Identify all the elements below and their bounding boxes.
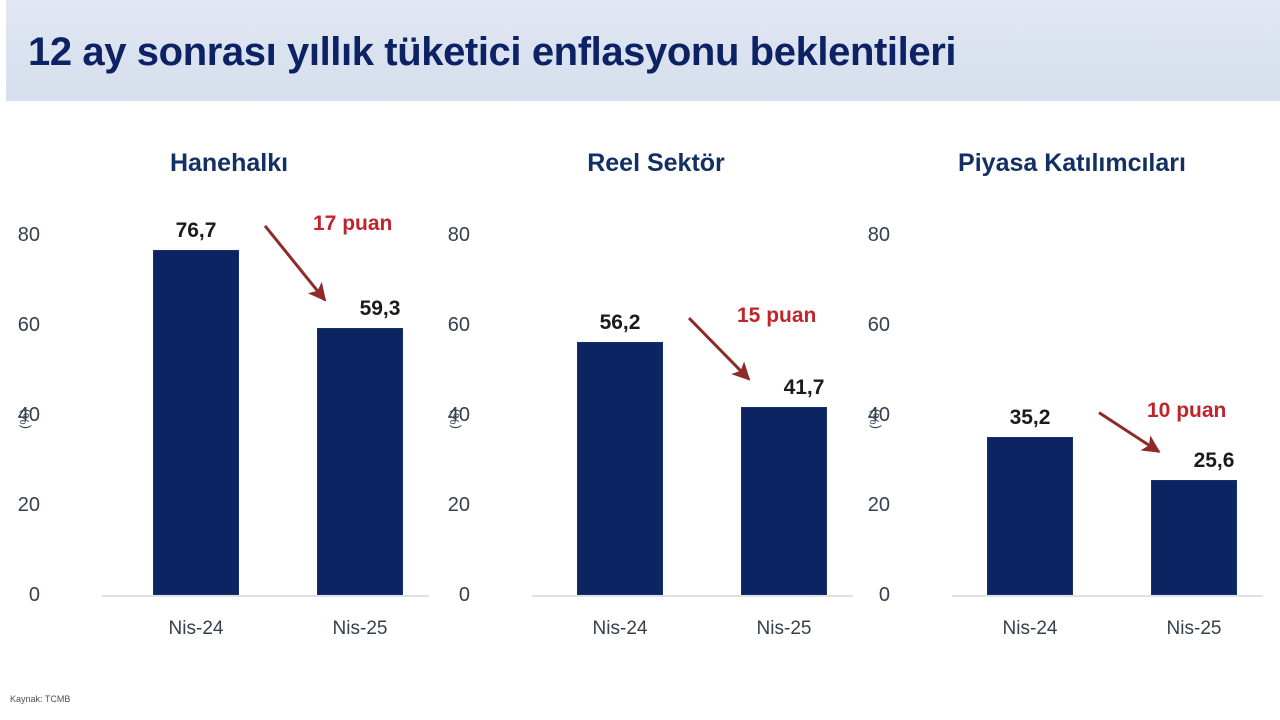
chart-plot: (%)02040608056,2Nis-2441,7Nis-2515 puan: [430, 101, 860, 661]
x-axis-tick-label: Nis-25: [295, 618, 425, 640]
y-axis-tick-label: 40: [424, 405, 470, 425]
chart-panel-piyasa-katilimcilari: Piyasa Katılımcıları (%)02040608035,2Nis…: [850, 101, 1280, 661]
y-axis-tick-label: 60: [424, 315, 470, 335]
bar: [577, 342, 663, 595]
bar-value-label: 41,7: [747, 376, 861, 400]
x-axis-tick-label: Nis-24: [131, 618, 261, 640]
bar-value-label: 59,3: [323, 297, 437, 321]
bar: [741, 407, 827, 595]
bar: [153, 250, 239, 595]
delta-annotation-label: 17 puan: [313, 212, 392, 236]
y-axis-tick-label: 40: [0, 405, 40, 425]
y-axis-tick-label: 60: [0, 315, 40, 335]
y-axis-tick-label: 0: [0, 585, 40, 605]
page-title: 12 ay sonrası yıllık tüketici enflasyonu…: [28, 29, 956, 75]
chart-plot: (%)02040608035,2Nis-2425,6Nis-2510 puan: [850, 101, 1280, 661]
y-axis-tick-label: 20: [844, 495, 890, 515]
x-axis-baseline: [952, 595, 1263, 597]
bar: [1151, 480, 1237, 595]
bar-value-label: 35,2: [973, 406, 1087, 430]
y-axis-tick-label: 60: [844, 315, 890, 335]
y-axis-tick-label: 80: [844, 225, 890, 245]
x-axis-tick-label: Nis-24: [965, 618, 1095, 640]
x-axis-baseline: [532, 595, 853, 597]
y-axis-tick-label: 20: [0, 495, 40, 515]
y-axis-tick-label: 40: [844, 405, 890, 425]
title-banner: 12 ay sonrası yıllık tüketici enflasyonu…: [0, 0, 1280, 101]
x-axis-tick-label: Nis-25: [1129, 618, 1259, 640]
bar-value-label: 25,6: [1157, 449, 1271, 473]
y-axis-tick-label: 20: [424, 495, 470, 515]
y-axis-tick-label: 80: [424, 225, 470, 245]
x-axis-tick-label: Nis-24: [555, 618, 685, 640]
charts-area: Hanehalkı (%)02040608076,7Nis-2459,3Nis-…: [0, 101, 1280, 720]
x-axis-tick-label: Nis-25: [719, 618, 849, 640]
source-note: Kaynak: TCMB: [10, 694, 70, 704]
delta-annotation-label: 15 puan: [737, 304, 816, 328]
bar-value-label: 76,7: [139, 219, 253, 243]
delta-annotation-label: 10 puan: [1147, 399, 1226, 423]
y-axis-tick-label: 0: [844, 585, 890, 605]
bar: [987, 437, 1073, 595]
x-axis-baseline: [102, 595, 429, 597]
y-axis-tick-label: 0: [424, 585, 470, 605]
chart-panel-hanehalki: Hanehalkı (%)02040608076,7Nis-2459,3Nis-…: [0, 101, 430, 661]
y-axis-tick-label: 80: [0, 225, 40, 245]
chart-panel-reel-sektor: Reel Sektör (%)02040608056,2Nis-2441,7Ni…: [430, 101, 860, 661]
bar: [317, 328, 403, 595]
chart-plot: (%)02040608076,7Nis-2459,3Nis-2517 puan: [0, 101, 430, 661]
bar-value-label: 56,2: [563, 311, 677, 335]
